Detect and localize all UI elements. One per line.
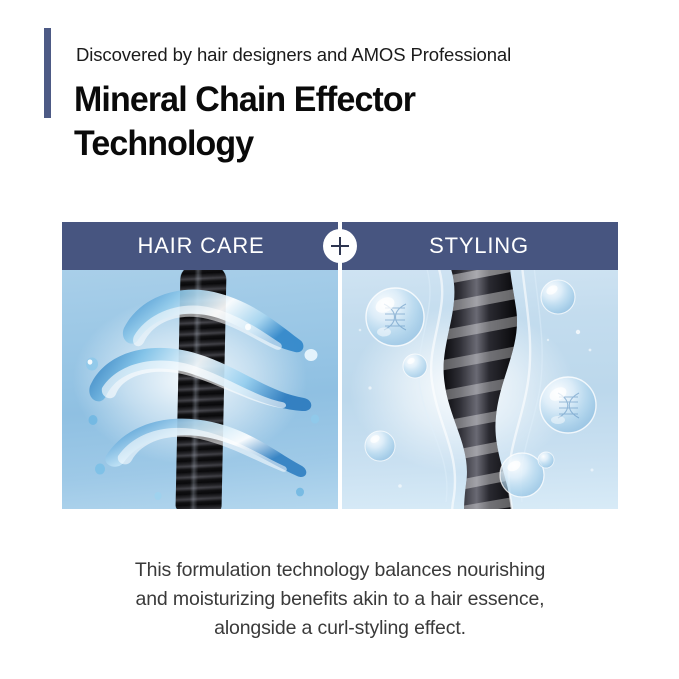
panel-divider: [338, 222, 342, 509]
bubble: [538, 452, 554, 468]
page-title-line-2: Technology: [74, 122, 637, 166]
bubble: [365, 431, 395, 461]
page-title-line-1: Mineral Chain Effector: [74, 78, 637, 122]
caption-line-2: and moisturizing benefits akin to a hair…: [62, 585, 618, 614]
caption-line-1: This formulation technology balances nou…: [62, 556, 618, 585]
promo-page: Discovered by hair designers and AMOS Pr…: [0, 0, 679, 679]
bubble: [541, 280, 575, 314]
bubbles-strand-illustration: [340, 270, 618, 509]
water-splash-illustration: [62, 270, 340, 509]
bubble: [403, 354, 427, 378]
banner-label-styling: STYLING: [340, 222, 618, 270]
header-block: Discovered by hair designers and AMOS Pr…: [0, 0, 679, 200]
banner-label-hair-care: HAIR CARE: [62, 222, 340, 270]
image-panel-styling: [340, 270, 618, 509]
caption-line-3: alongside a curl-styling effect.: [62, 614, 618, 643]
caption-text: This formulation technology balances nou…: [62, 556, 618, 643]
bubble-with-helix: [540, 377, 596, 433]
eyebrow-text: Discovered by hair designers and AMOS Pr…: [76, 43, 656, 67]
bubble: [500, 453, 544, 497]
image-panel-hair-care: [62, 270, 340, 509]
bubble-with-helix: [366, 288, 424, 346]
accent-bar: [44, 28, 51, 118]
plus-icon: [323, 229, 357, 263]
page-title: Mineral Chain Effector Technology: [74, 78, 654, 166]
comparison-figure: HAIR CARE STYLING: [62, 222, 618, 509]
